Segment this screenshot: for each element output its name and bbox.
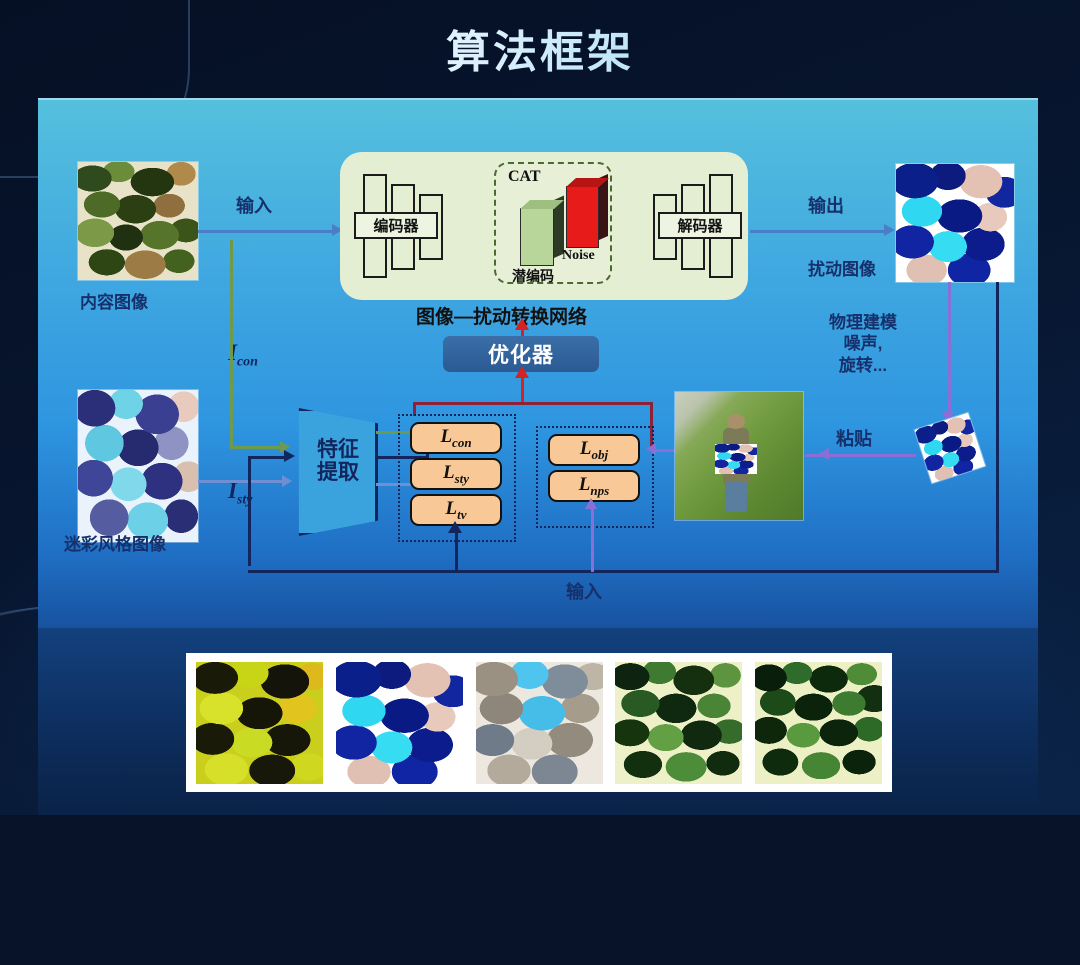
nps-bus-connector [591,552,594,572]
optimizer-to-network-head [515,318,529,330]
decoder-label-box: 解码器 [658,212,742,239]
perturbed-image-caption: 扰动图像 [808,255,876,280]
page-title: 算法框架 [0,16,1080,80]
slide-background: 算法框架 内容图像 Icon 输入 迷彩风格图像 Isty [0,0,1080,815]
gallery-thumb-2 [476,662,603,784]
style-path-line [198,480,284,483]
output-arrow-line [750,230,886,233]
physical-model-line3: 旋转... [808,355,918,376]
nps-feed-head [585,498,597,509]
gallery-thumb-3 [615,662,742,784]
loss-nps-label: Lnps [579,474,609,499]
encoder-label-box: 编码器 [354,212,438,239]
optimizer-label: 优化器 [488,339,554,369]
photo-person-legs [725,482,747,512]
tv-bus-connector [455,552,458,572]
gallery-thumb-4 [755,662,882,784]
physical-model-line [948,282,951,414]
content-image-thumbnail [78,162,198,280]
output-arrow-head [884,224,895,236]
latent-code-cube [520,208,554,266]
content-path-vertical [230,240,233,448]
loss-con-label: Lcon [440,426,471,451]
losses-to-optimizer-head [515,366,529,378]
content-image-caption: 内容图像 [80,288,148,313]
feature-extractor-label-line1: 特征 [302,438,374,461]
loss-box-con: Lcon [410,422,502,454]
input-arrow-label: 输入 [236,192,272,218]
latent-code-label: 潜编码 [512,266,554,286]
gallery-image-woodland-green-camo [755,662,882,784]
style-image-caption: 迷彩风格图像 [64,530,166,555]
decoder-label: 解码器 [677,215,722,236]
output-arrow-label: 输出 [808,192,844,218]
feedback-path-arrowhead [284,450,295,462]
physical-model-label: 物理建模 噪声, 旋转... [808,312,918,376]
feature-extractor-label: 特征 提取 [302,438,374,484]
patch-to-photo-line [805,454,823,457]
adversarial-patch-on-person [715,444,757,474]
feedback-path-vertical [248,456,251,566]
perturbed-image-thumbnail [896,164,1014,282]
scene-photo-with-patch [675,392,803,520]
loss-box-sty: Lsty [410,458,502,490]
physical-model-line2: 噪声, [808,333,918,354]
loss-sty-label: Lsty [443,462,469,487]
input-arrow-line [198,230,334,233]
style-image-thumbnail [78,390,198,542]
loss-tv-label: Ltv [446,498,467,523]
content-symbol-sub: con [237,355,258,370]
loss-box-obj: Lobj [548,434,640,466]
rotated-patch-thumbnail [915,413,986,484]
tv-feed-head [448,521,462,533]
gallery-image-grey-blue-camo [476,662,603,784]
noise-cube [566,186,599,248]
results-gallery [186,653,892,792]
feature-extractor-label-line2: 提取 [302,461,374,484]
feedback-path-horizontal [248,456,286,459]
bottom-feedback-bus [248,570,999,573]
noise-label: Noise [562,248,595,264]
right-feedback-vertical [996,282,999,572]
rotated-patch-image [915,413,986,484]
gallery-thumb-1 [336,662,463,784]
bottom-input-label: 输入 [566,578,602,604]
translation-network-caption: 图像—扰动转换网络 [416,302,587,329]
physical-model-line1: 物理建模 [808,312,918,333]
paste-arrow-line [828,454,916,457]
photo-person-head [727,414,745,429]
detector-to-lobj-head [646,443,656,455]
gallery-thumb-0 [196,662,323,784]
content-path-horizontal [230,446,282,449]
loss-obj-label: Lobj [580,438,608,463]
diagram-panel: 内容图像 Icon 输入 迷彩风格图像 Isty 特征 提取 [38,98,1038,628]
gallery-image-blue-cyan-camo [336,662,463,784]
paste-label: 粘贴 [836,425,872,451]
loss-bus-horizontal [413,402,653,405]
cat-label: CAT [508,168,541,186]
style-path-arrowhead [282,475,292,487]
encoder-label: 编码器 [373,215,418,236]
gallery-image-yellow-black-camo [196,662,323,784]
gallery-image-forest-green-camo [615,662,742,784]
